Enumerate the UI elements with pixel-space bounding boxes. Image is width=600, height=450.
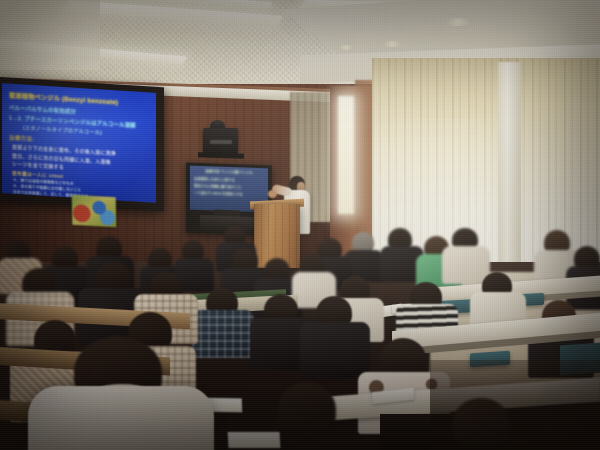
attendee-torso (300, 322, 370, 378)
wall-poster (72, 195, 117, 227)
paper-handout (228, 432, 281, 448)
monitor-line: 一人当たり 100ml を目安とする (194, 190, 264, 197)
attendee-torso (442, 246, 490, 284)
presenter-hand (268, 190, 277, 198)
recessed-downlight (445, 18, 471, 26)
ceiling-corner-shade (0, 0, 100, 70)
plaid-shirt-attendee (192, 310, 254, 358)
recessed-downlight (382, 41, 402, 47)
lecture-hall-photo: 蜜源植物ベンジル (Benzyl benzoate) ベルーバルサムの有効成分 … (0, 0, 600, 450)
monitor-line: 全身塗布したあと入浴する (194, 176, 264, 183)
monitor-content: 治療方法 ベンジル酸ベンジル 全身塗布したあと入浴する 翌日さらに同様に繰り返す… (190, 166, 268, 203)
window-mullion (498, 62, 521, 292)
slide-content: 蜜源植物ベンジル (Benzyl benzoate) ベルーバルサムの有効成分 … (2, 83, 156, 203)
foreground-attendee-head (278, 382, 336, 438)
monitor-line: 治療方法 ベンジル酸ベンジル (194, 169, 264, 176)
foreground-white-shirt-man (28, 386, 214, 450)
speaker-label (210, 140, 232, 144)
window-light-gap (338, 96, 354, 214)
recessed-downlight (338, 45, 354, 50)
projection-screen[interactable]: 蜜源植物ベンジル (Benzyl benzoate) ベルーバルサムの有効成分 … (2, 83, 156, 203)
monitor-line: 翌日さらに同様に繰り返すこと (194, 183, 264, 190)
foreground-attendee-head (452, 398, 510, 450)
